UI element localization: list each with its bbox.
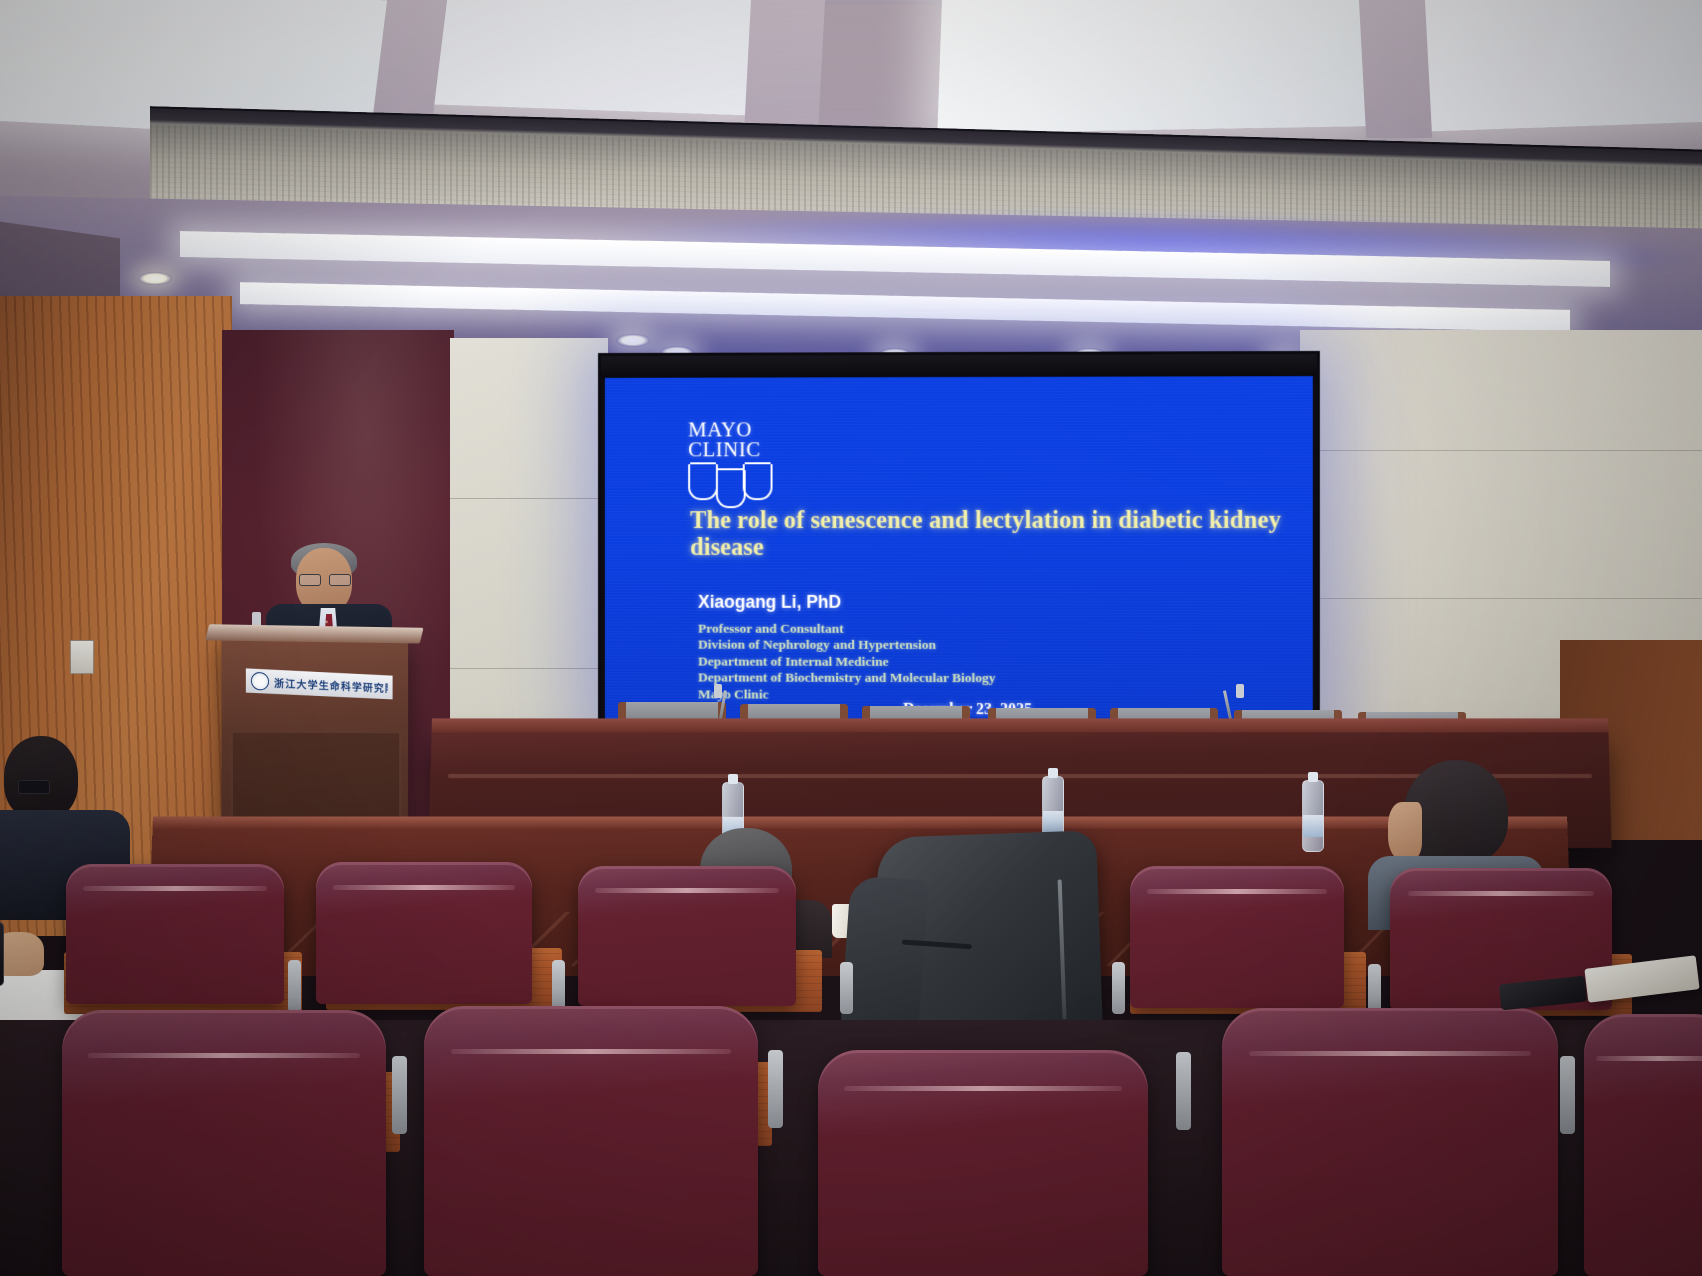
ceiling-light-panel (426, 0, 764, 116)
slide-affiliations: Professor and Consultant Division of Nep… (698, 621, 996, 704)
mayo-clinic-three-shields-icon (688, 463, 771, 507)
mayo-clinic-logo: MAYO CLINIC (688, 419, 779, 506)
seat-armrest (552, 960, 565, 1012)
theater-seat[interactable] (578, 866, 796, 1006)
slide-surface: MAYO CLINIC The role of senescence and l… (605, 376, 1313, 732)
podium-nameplate: 浙江大学生命科学研究院 (246, 668, 393, 699)
stage-table-top (432, 718, 1609, 732)
seat-armrest (840, 962, 853, 1014)
theater-seat-front-row[interactable] (1584, 1014, 1702, 1276)
audience-head (4, 736, 78, 820)
university-crest-emblem (251, 672, 269, 691)
audience-face (1388, 802, 1422, 860)
affiliation-line: Department of Internal Medicine (698, 654, 996, 671)
seat-armrest (392, 1056, 407, 1134)
theater-seat-front-row[interactable] (818, 1050, 1148, 1276)
eyeglasses-icon (299, 574, 349, 584)
theater-seat-front-row[interactable] (62, 1010, 386, 1276)
affiliation-line: Division of Nephrology and Hypertension (698, 637, 996, 654)
jacket-zipper (1058, 879, 1067, 1019)
affiliation-line: Department of Biochemistry and Molecular… (698, 670, 996, 687)
raised-hand (0, 932, 44, 976)
ceiling-light-panel (937, 0, 1373, 134)
stage-microphone-head (1236, 684, 1244, 698)
theater-seat-front-row[interactable] (424, 1006, 758, 1276)
ceiling-light-panel (1418, 0, 1702, 132)
ceiling-beam (1358, 0, 1432, 138)
eyeglasses-icon (18, 780, 50, 794)
wall-switch-plate[interactable] (70, 640, 94, 674)
smartphone[interactable] (0, 922, 4, 986)
theater-seat-front-row[interactable] (1222, 1008, 1558, 1276)
slide-title: The role of senescence and lectylation i… (690, 507, 1290, 562)
recessed-downlight (616, 334, 650, 347)
ceiling-beam (744, 0, 826, 136)
recessed-downlight (138, 272, 172, 285)
theater-seat[interactable] (1130, 866, 1344, 1008)
screen-bezel (601, 354, 1317, 378)
seat-armrest (768, 1050, 783, 1128)
seat-armrest (1560, 1056, 1575, 1134)
seat-armrest (288, 960, 301, 1012)
audience-desk-top (153, 817, 1568, 829)
theater-seat[interactable] (316, 862, 532, 1004)
mayo-logo-line2: CLINIC (688, 439, 779, 459)
affiliation-line: Professor and Consultant (698, 621, 996, 638)
podium-desktop (205, 624, 423, 643)
presentation-screen[interactable]: MAYO CLINIC The role of senescence and l… (598, 351, 1320, 741)
theater-seat[interactable] (66, 864, 284, 1004)
water-bottle[interactable] (1302, 780, 1324, 852)
stage-microphone-head (714, 684, 722, 698)
seat-armrest (1176, 1052, 1191, 1130)
podium-sign-text: 浙江大学生命科学研究院 (274, 674, 388, 694)
lecture-hall-photo: MAYO CLINIC The role of senescence and l… (0, 0, 1702, 1276)
slide-author-name: Xiaogang Li, PhD (698, 592, 841, 613)
seat-armrest (1112, 962, 1125, 1014)
